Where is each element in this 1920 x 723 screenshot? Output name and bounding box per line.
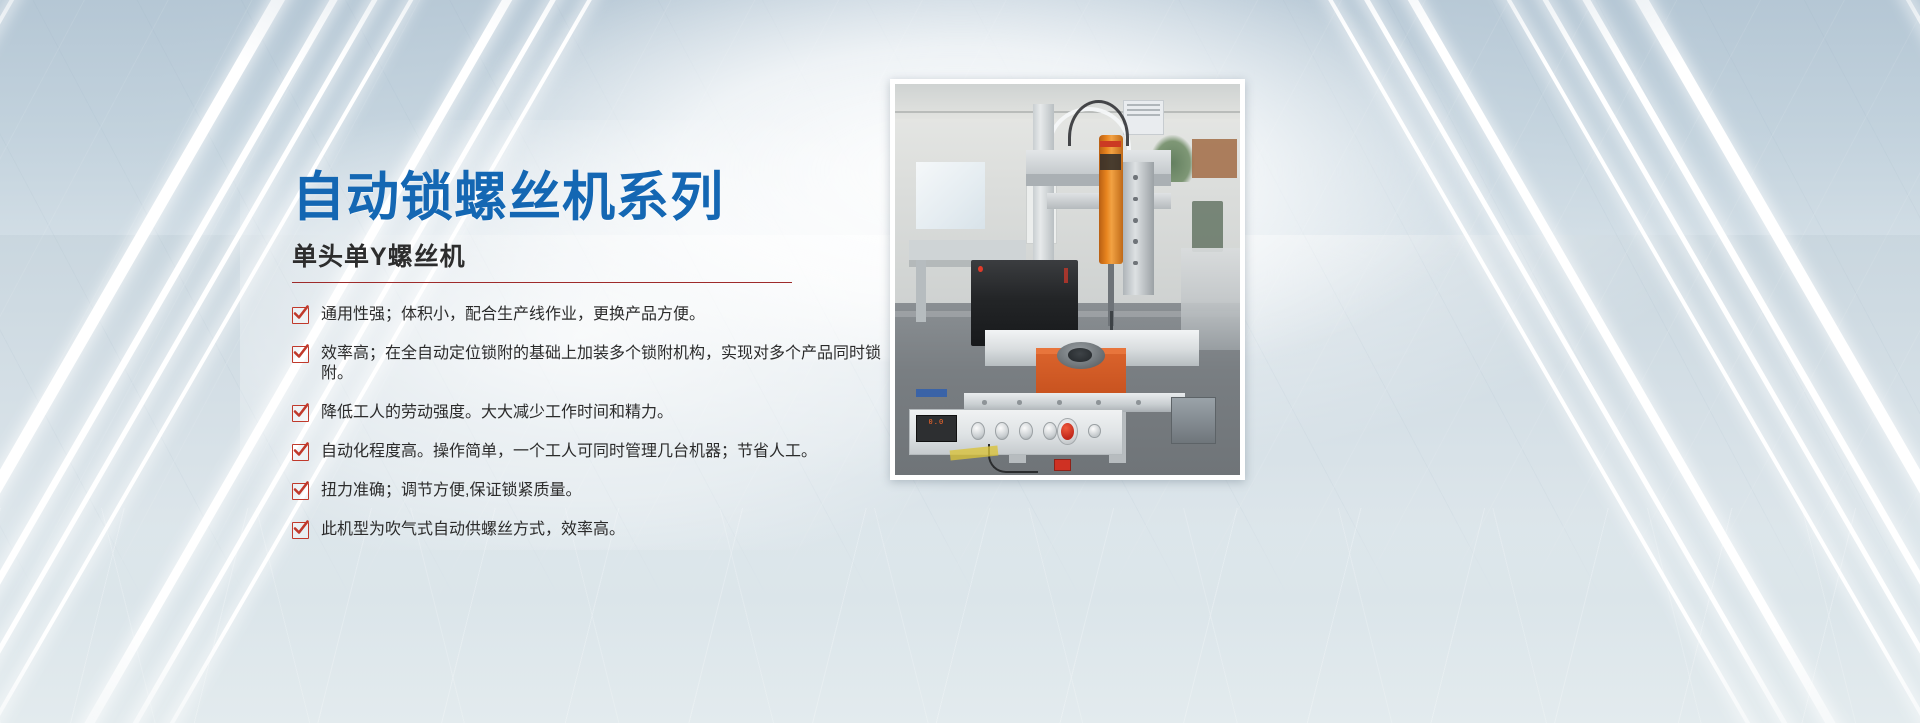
machine-panel-red-switch — [1054, 459, 1071, 471]
photo-bin — [1192, 201, 1223, 252]
machine-screwdriver-stripe — [1100, 141, 1121, 147]
product-photo-frame: 0.0 — [890, 79, 1245, 480]
photo-monitor — [1171, 397, 1216, 444]
banner-stage: 自动锁螺丝机系列 单头单Y螺丝机 通用性强；体积小，配合生产线作业，更换产品方便… — [0, 0, 1920, 723]
photo-blue-object — [916, 389, 947, 397]
feature-text: 效率高；在全自动定位锁附的基础上加装多个锁附机构，实现对多个产品同时锁附。 — [321, 344, 912, 384]
product-photo: 0.0 — [895, 84, 1240, 475]
machine-emergency-stop-button — [1057, 418, 1078, 445]
machine-panel-display: 0.0 — [916, 415, 957, 442]
page-title: 自动锁螺丝机系列 — [292, 168, 912, 227]
feature-text: 降低工人的劳动强度。大大减少工作时间和精力。 — [321, 403, 673, 423]
machine-workpiece-center — [1068, 348, 1092, 361]
feature-text: 通用性强；体积小，配合生产线作业，更换产品方便。 — [321, 305, 705, 325]
check-box-icon — [292, 444, 309, 461]
feature-text: 此机型为吹气式自动供螺丝方式，效率高。 — [321, 520, 625, 540]
photo-wall-sign — [1123, 100, 1164, 135]
machine-panel-button — [971, 422, 985, 440]
list-item: 扭力准确；调节方便,保证锁紧质量。 — [292, 481, 912, 501]
check-box-icon — [292, 346, 309, 363]
photo-workbench-leg — [916, 260, 926, 323]
list-item: 降低工人的劳动强度。大大减少工作时间和精力。 — [292, 403, 912, 423]
machine-panel-display-value: 0.0 — [917, 416, 956, 428]
check-box-icon — [292, 307, 309, 324]
photo-workbench — [909, 240, 1026, 260]
check-box-icon — [292, 483, 309, 500]
list-item: 通用性强；体积小，配合生产线作业，更换产品方便。 — [292, 305, 912, 325]
list-item: 此机型为吹气式自动供螺丝方式，效率高。 — [292, 520, 912, 540]
feature-text: 扭力准确；调节方便,保证锁紧质量。 — [321, 481, 581, 501]
machine-z-axis-block — [1123, 162, 1154, 295]
list-item: 效率高；在全自动定位锁附的基础上加装多个锁附机构，实现对多个产品同时锁附。 — [292, 344, 912, 384]
check-box-icon — [292, 522, 309, 539]
title-divider — [292, 282, 792, 283]
machine-power-switch — [1088, 424, 1100, 438]
machine-panel-button — [995, 422, 1009, 440]
photo-window — [916, 162, 985, 228]
machine-screwdriver-label — [1100, 154, 1121, 170]
banner-content: 自动锁螺丝机系列 单头单Y螺丝机 通用性强；体积小，配合生产线作业，更换产品方便… — [292, 168, 912, 559]
machine-controller-led — [978, 266, 983, 272]
feature-list: 通用性强；体积小，配合生产线作业，更换产品方便。 效率高；在全自动定位锁附的基础… — [292, 305, 912, 540]
list-item: 自动化程度高。操作简单，一个工人可同时管理几台机器；节省人工。 — [292, 442, 912, 462]
photo-cardboard-box — [1192, 139, 1237, 178]
machine-controller-led — [1064, 268, 1068, 284]
check-box-icon — [292, 405, 309, 422]
page-subtitle: 单头单Y螺丝机 — [292, 237, 912, 273]
feature-text: 自动化程度高。操作简单，一个工人可同时管理几台机器；节省人工。 — [321, 442, 817, 462]
